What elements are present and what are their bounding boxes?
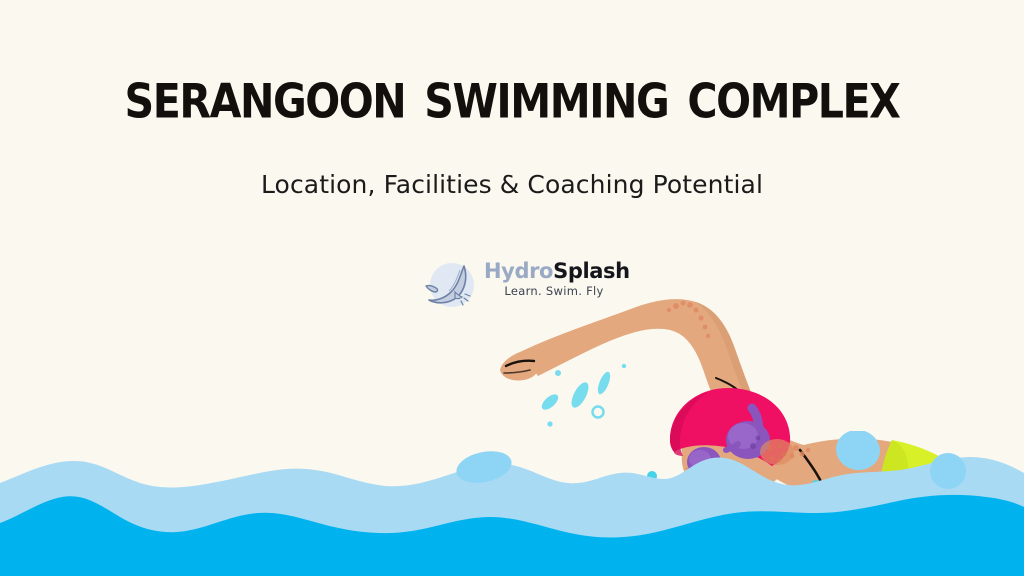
- presentation-slide: Serangoon Swimming Complex Location, Fac…: [0, 0, 1024, 576]
- page-title: Serangoon Swimming Complex: [10, 55, 1014, 136]
- page-subtitle: Location, Facilities & Coaching Potentia…: [0, 170, 1024, 199]
- wave-graphic: [0, 431, 1024, 576]
- dolphin-wave-icon: [424, 258, 478, 312]
